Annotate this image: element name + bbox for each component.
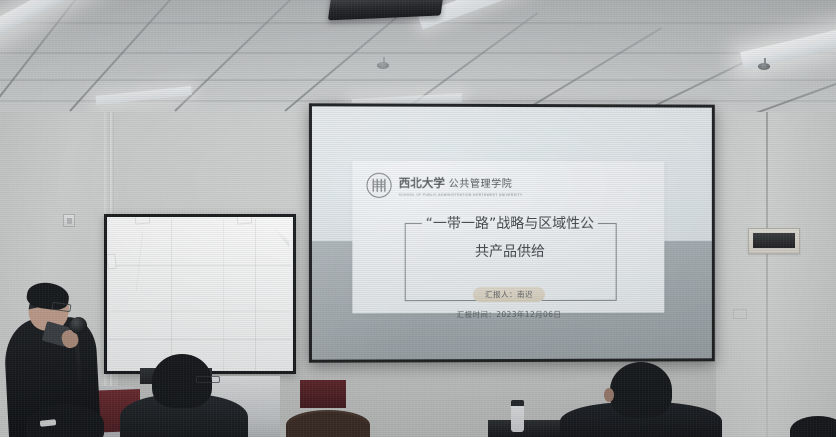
wall-seam-right [766, 88, 768, 437]
paper-crease-d1 [136, 231, 143, 291]
ceiling-rail-row-2 [0, 52, 836, 54]
brand-english-line: SCHOOL OF PUBLIC ADMINISTRATION NORTHWES… [399, 192, 523, 197]
water-bottle-cap [511, 400, 524, 406]
brand-school-name: 公共管理学院 [449, 179, 513, 190]
ceiling-light-right [740, 23, 836, 70]
presenter-badge: 汇报人：南迟 [473, 287, 545, 302]
university-seal-icon [366, 173, 391, 198]
ceiling-rail-row-1 [0, 22, 836, 24]
right-wall-plane [716, 90, 836, 437]
smoke-detector-right [758, 63, 770, 70]
ceiling-rail-c [174, 0, 312, 112]
suspended-ceiling [0, 0, 836, 112]
whiteboard-surface [107, 217, 293, 371]
paper-crease-v2 [223, 219, 224, 371]
brand-text-block: 西北大学 公共管理学院 SCHOOL OF PUBLIC ADMINISTRAT… [399, 175, 523, 196]
microphone-icon [70, 317, 87, 334]
taped-paper-sheet [109, 219, 291, 371]
projection-screen: 西北大学 公共管理学院 SCHOOL OF PUBLIC ADMINISTRAT… [309, 103, 715, 362]
audience-head-foreground-left [26, 404, 104, 437]
brand-university-name: 西北大学 [399, 176, 445, 190]
audience-head-right [610, 362, 672, 418]
ceiling-light-left [0, 0, 105, 42]
paper-crease-v3 [255, 219, 256, 371]
tape-top-left [135, 217, 151, 225]
slide-title-line2: 共产品供给 [393, 245, 627, 259]
presentation-date: 汇报时间：2023年12月06日 [352, 309, 664, 321]
audience-glasses-front-left [196, 376, 220, 383]
paper-crease-v1 [171, 219, 172, 371]
tape-top-right [237, 217, 253, 225]
wall-light-switch[interactable] [63, 214, 75, 227]
paper-crease-h3 [109, 339, 291, 340]
smoke-detector-left [377, 62, 389, 69]
slide-title: “一带一路”战略与区域性公 共产品供给 [393, 213, 627, 259]
tape-left-side [107, 254, 117, 270]
paper-crease-h2 [109, 311, 291, 312]
projection-surface: 西北大学 公共管理学院 SCHOOL OF PUBLIC ADMINISTRAT… [312, 106, 712, 359]
ceiling-light-rear-left [96, 86, 192, 105]
wall-control-panel[interactable] [748, 228, 800, 254]
lecture-room-photo: 西北大学 公共管理学院 SCHOOL OF PUBLIC ADMINISTRAT… [0, 0, 836, 437]
paper-crease-h1 [109, 265, 291, 266]
wall-outlet[interactable] [733, 309, 747, 319]
whiteboard [104, 214, 296, 374]
audience-ear-right [604, 388, 614, 402]
water-bottle [511, 404, 524, 432]
slide-title-line1: “一带一路”战略与区域性公 [422, 217, 598, 231]
paper-corner-curl [269, 223, 289, 247]
wall-panel-display [753, 233, 795, 248]
slide-title-line1-wrap: “一带一路”战略与区域性公 [393, 213, 627, 232]
presentation-slide: 西北大学 公共管理学院 SCHOOL OF PUBLIC ADMINISTRAT… [352, 161, 664, 314]
university-branding: 西北大学 公共管理学院 SCHOOL OF PUBLIC ADMINISTRAT… [366, 173, 522, 198]
brand-chinese-line: 西北大学 公共管理学院 [399, 175, 523, 191]
maroon-seat-back-right [300, 380, 346, 408]
